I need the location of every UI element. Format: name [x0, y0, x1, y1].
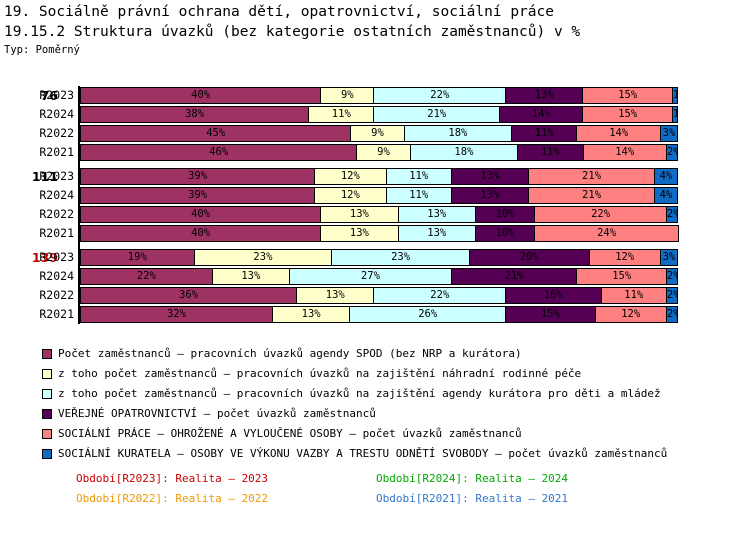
bar-segment[interactable]: 36%	[80, 287, 297, 304]
bar-segment[interactable]: 2%	[666, 206, 678, 223]
bar-segment[interactable]: 18%	[404, 125, 513, 142]
row-period-label: R2022	[34, 286, 74, 305]
bar-segment[interactable]: 21%	[528, 168, 655, 185]
legend-item-label: SOCIÁLNÍ PRÁCE – OHROŽENÉ A VYLOUČENÉ OS…	[44, 424, 522, 444]
bar-segment[interactable]: 38%	[80, 106, 309, 123]
bar-segment[interactable]: 13%	[398, 225, 476, 242]
chart-plot-area: 76R202340%9%22%13%15%1%R202438%11%21%14%…	[0, 84, 750, 332]
chart-header: 19. Sociálně právní ochrana dětí, opatro…	[0, 0, 750, 57]
bar-segment[interactable]: 1%	[672, 87, 678, 104]
bar-segment[interactable]: 24%	[534, 225, 679, 242]
bar-segment[interactable]: 21%	[451, 268, 578, 285]
row-period-label: R2023	[34, 248, 74, 267]
bar-segment[interactable]: 12%	[589, 249, 661, 266]
stacked-bar[interactable]: 40%13%13%10%22%2%	[80, 206, 683, 223]
bar-segment[interactable]: 12%	[314, 168, 386, 185]
bar-segment[interactable]: 15%	[582, 106, 672, 123]
stacked-bar[interactable]: 32%13%26%15%12%2%	[80, 306, 683, 323]
bar-segment[interactable]: 13%	[398, 206, 476, 223]
bar-segment[interactable]: 11%	[517, 144, 583, 161]
legend-item-label: SOCIÁLNÍ KURATELA – OSOBY VE VÝKONU VAZB…	[44, 444, 667, 464]
bar-group: 139R202319%23%23%20%12%3%R202422%13%27%2…	[0, 248, 750, 324]
stacked-bar[interactable]: 39%12%11%13%21%4%	[80, 168, 683, 185]
bar-segment[interactable]: 2%	[666, 306, 678, 323]
bar-segment[interactable]: 11%	[386, 187, 452, 204]
bar-segment[interactable]: 27%	[289, 268, 452, 285]
bar-segment[interactable]: 2%	[666, 268, 678, 285]
bar-segment[interactable]: 18%	[410, 144, 519, 161]
bar-segment[interactable]: 22%	[373, 87, 506, 104]
legend-item[interactable]: SOCIÁLNÍ PRÁCE – OHROŽENÉ A VYLOUČENÉ OS…	[0, 424, 750, 444]
bar-segment[interactable]: 14%	[583, 144, 667, 161]
stacked-bar[interactable]: 38%11%21%14%15%1%	[80, 106, 683, 123]
bar-segment[interactable]: 4%	[654, 168, 678, 185]
legend-swatch-icon	[42, 389, 52, 399]
bar-segment[interactable]: 2%	[666, 287, 678, 304]
chart-type-label: Typ: Poměrný	[0, 42, 750, 57]
bar-segment[interactable]: 45%	[80, 125, 351, 142]
bar-segment[interactable]: 11%	[308, 106, 374, 123]
row-period-label: R2021	[34, 143, 74, 162]
stacked-bar[interactable]: 22%13%27%21%15%2%	[80, 268, 683, 285]
legend-item-label: Počet zaměstnanců – pracovních úvazků ag…	[44, 344, 522, 364]
bar-segment[interactable]: 14%	[499, 106, 583, 123]
legend-swatch-icon	[42, 369, 52, 379]
stacked-bar[interactable]: 40%13%13%10%24%	[80, 225, 683, 242]
bar-segment[interactable]: 15%	[582, 87, 672, 104]
bar-segment[interactable]: 2%	[666, 144, 678, 161]
bar-segment[interactable]: 39%	[80, 187, 315, 204]
bar-segment[interactable]: 9%	[356, 144, 410, 161]
bar-segment[interactable]: 13%	[505, 87, 583, 104]
legend-swatch-icon	[42, 409, 52, 419]
chart-legend: Počet zaměstnanců – pracovních úvazků ag…	[0, 344, 750, 464]
bar-segment[interactable]: 11%	[511, 125, 577, 142]
bar-segment[interactable]: 13%	[272, 306, 350, 323]
bar-segment[interactable]: 3%	[660, 249, 678, 266]
row-period-label: R2021	[34, 305, 74, 324]
legend-item[interactable]: z toho počet zaměstnanců – pracovních úv…	[0, 384, 750, 404]
legend-item-label: VEŘEJNÉ OPATROVNICTVÍ – počet úvazků zam…	[44, 404, 376, 424]
chart-row[interactable]: R202146%9%18%11%14%2%	[0, 143, 750, 162]
period-label: Období[R2023]: Realita – 2023	[76, 472, 268, 486]
stacked-bar[interactable]: 39%12%11%13%21%4%	[80, 187, 683, 204]
bar-group: 111R202339%12%11%13%21%4%R202439%12%11%1…	[0, 167, 750, 243]
chart-row[interactable]: R202340%9%22%13%15%1%	[0, 86, 750, 105]
bar-segment[interactable]: 15%	[505, 306, 595, 323]
legend-item-label: z toho počet zaměstnanců – pracovních úv…	[44, 364, 581, 384]
bar-segment[interactable]: 1%	[672, 106, 678, 123]
legend-item[interactable]: z toho počet zaměstnanců – pracovních úv…	[0, 364, 750, 384]
stacked-bar[interactable]: 46%9%18%11%14%2%	[80, 144, 683, 161]
bar-segment[interactable]: 23%	[331, 249, 470, 266]
period-label: Období[R2024]: Realita – 2024	[376, 472, 568, 486]
bar-segment[interactable]: 16%	[505, 287, 601, 304]
period-label: Období[R2022]: Realita – 2022	[76, 492, 268, 506]
chart-row[interactable]: R202236%13%22%16%11%2%	[0, 286, 750, 305]
bar-segment[interactable]: 20%	[469, 249, 590, 266]
bar-group: 76R202340%9%22%13%15%1%R202438%11%21%14%…	[0, 86, 750, 162]
row-period-label: R2023	[34, 86, 74, 105]
row-period-label: R2024	[34, 186, 74, 205]
stacked-bar[interactable]: 45%9%18%11%14%3%	[80, 125, 683, 142]
bar-segment[interactable]: 13%	[451, 168, 529, 185]
bar-segment[interactable]: 9%	[320, 87, 374, 104]
row-period-label: R2024	[34, 267, 74, 286]
bar-segment[interactable]: 14%	[576, 125, 660, 142]
bar-segment[interactable]: 13%	[296, 287, 374, 304]
chart-row[interactable]: R202422%13%27%21%15%2%	[0, 267, 750, 286]
bar-segment[interactable]: 40%	[80, 206, 321, 223]
bar-segment[interactable]: 26%	[349, 306, 506, 323]
stacked-bar[interactable]: 40%9%22%13%15%1%	[80, 87, 683, 104]
page-subtitle: 19.15.2 Struktura úvazků (bez kategorie …	[0, 22, 750, 42]
chart-row[interactable]: R202438%11%21%14%15%1%	[0, 105, 750, 124]
row-period-label: R2022	[34, 124, 74, 143]
bar-segment[interactable]: 23%	[194, 249, 333, 266]
bar-segment[interactable]: 4%	[654, 187, 678, 204]
bar-segment[interactable]: 21%	[373, 106, 500, 123]
bar-segment[interactable]: 22%	[534, 206, 667, 223]
legend-item[interactable]: SOCIÁLNÍ KURATELA – OSOBY VE VÝKONU VAZB…	[0, 444, 750, 464]
bar-segment[interactable]: 13%	[451, 187, 529, 204]
bar-segment[interactable]: 3%	[660, 125, 678, 142]
legend-item[interactable]: VEŘEJNÉ OPATROVNICTVÍ – počet úvazků zam…	[0, 404, 750, 424]
bar-segment[interactable]: 21%	[528, 187, 655, 204]
bar-segment[interactable]: 22%	[80, 268, 213, 285]
bar-segment[interactable]: 10%	[475, 225, 535, 242]
bar-segment[interactable]: 12%	[314, 187, 386, 204]
bar-segment[interactable]: 13%	[212, 268, 290, 285]
legend-swatch-icon	[42, 429, 52, 439]
bar-segment[interactable]: 40%	[80, 87, 321, 104]
bar-segment[interactable]: 12%	[595, 306, 667, 323]
page-title: 19. Sociálně právní ochrana dětí, opatro…	[0, 0, 750, 22]
chart-row[interactable]: R202245%9%18%11%14%3%	[0, 124, 750, 143]
chart-row[interactable]: R202339%12%11%13%21%4%	[0, 167, 750, 186]
bar-segment[interactable]: 10%	[475, 206, 535, 223]
row-period-label: R2023	[34, 167, 74, 186]
bar-segment[interactable]: 22%	[373, 287, 506, 304]
chart-row[interactable]: R202240%13%13%10%22%2%	[0, 205, 750, 224]
chart-row[interactable]: R202140%13%13%10%24%	[0, 224, 750, 243]
bar-segment[interactable]: 40%	[80, 225, 321, 242]
chart-row[interactable]: R202319%23%23%20%12%3%	[0, 248, 750, 267]
period-label: Období[R2021]: Realita – 2021	[376, 492, 568, 506]
bar-segment[interactable]: 9%	[350, 125, 404, 142]
stacked-bar[interactable]: 19%23%23%20%12%3%	[80, 249, 683, 266]
row-period-label: R2022	[34, 205, 74, 224]
bar-segment[interactable]: 11%	[386, 168, 452, 185]
chart-row[interactable]: R202132%13%26%15%12%2%	[0, 305, 750, 324]
bar-segment[interactable]: 39%	[80, 168, 315, 185]
row-period-label: R2024	[34, 105, 74, 124]
legend-swatch-icon	[42, 349, 52, 359]
bar-segment[interactable]: 13%	[320, 225, 398, 242]
bar-segment[interactable]: 46%	[80, 144, 357, 161]
bar-segment[interactable]: 11%	[601, 287, 667, 304]
row-period-label: R2021	[34, 224, 74, 243]
bar-segment[interactable]: 32%	[80, 306, 273, 323]
chart-row[interactable]: R202439%12%11%13%21%4%	[0, 186, 750, 205]
legend-item-label: z toho počet zaměstnanců – pracovních úv…	[44, 384, 661, 404]
legend-item[interactable]: Počet zaměstnanců – pracovních úvazků ag…	[0, 344, 750, 364]
stacked-bar[interactable]: 36%13%22%16%11%2%	[80, 287, 683, 304]
bar-segment[interactable]: 19%	[80, 249, 195, 266]
bar-segment[interactable]: 15%	[576, 268, 666, 285]
bar-segment[interactable]: 13%	[320, 206, 398, 223]
legend-swatch-icon	[42, 449, 52, 459]
